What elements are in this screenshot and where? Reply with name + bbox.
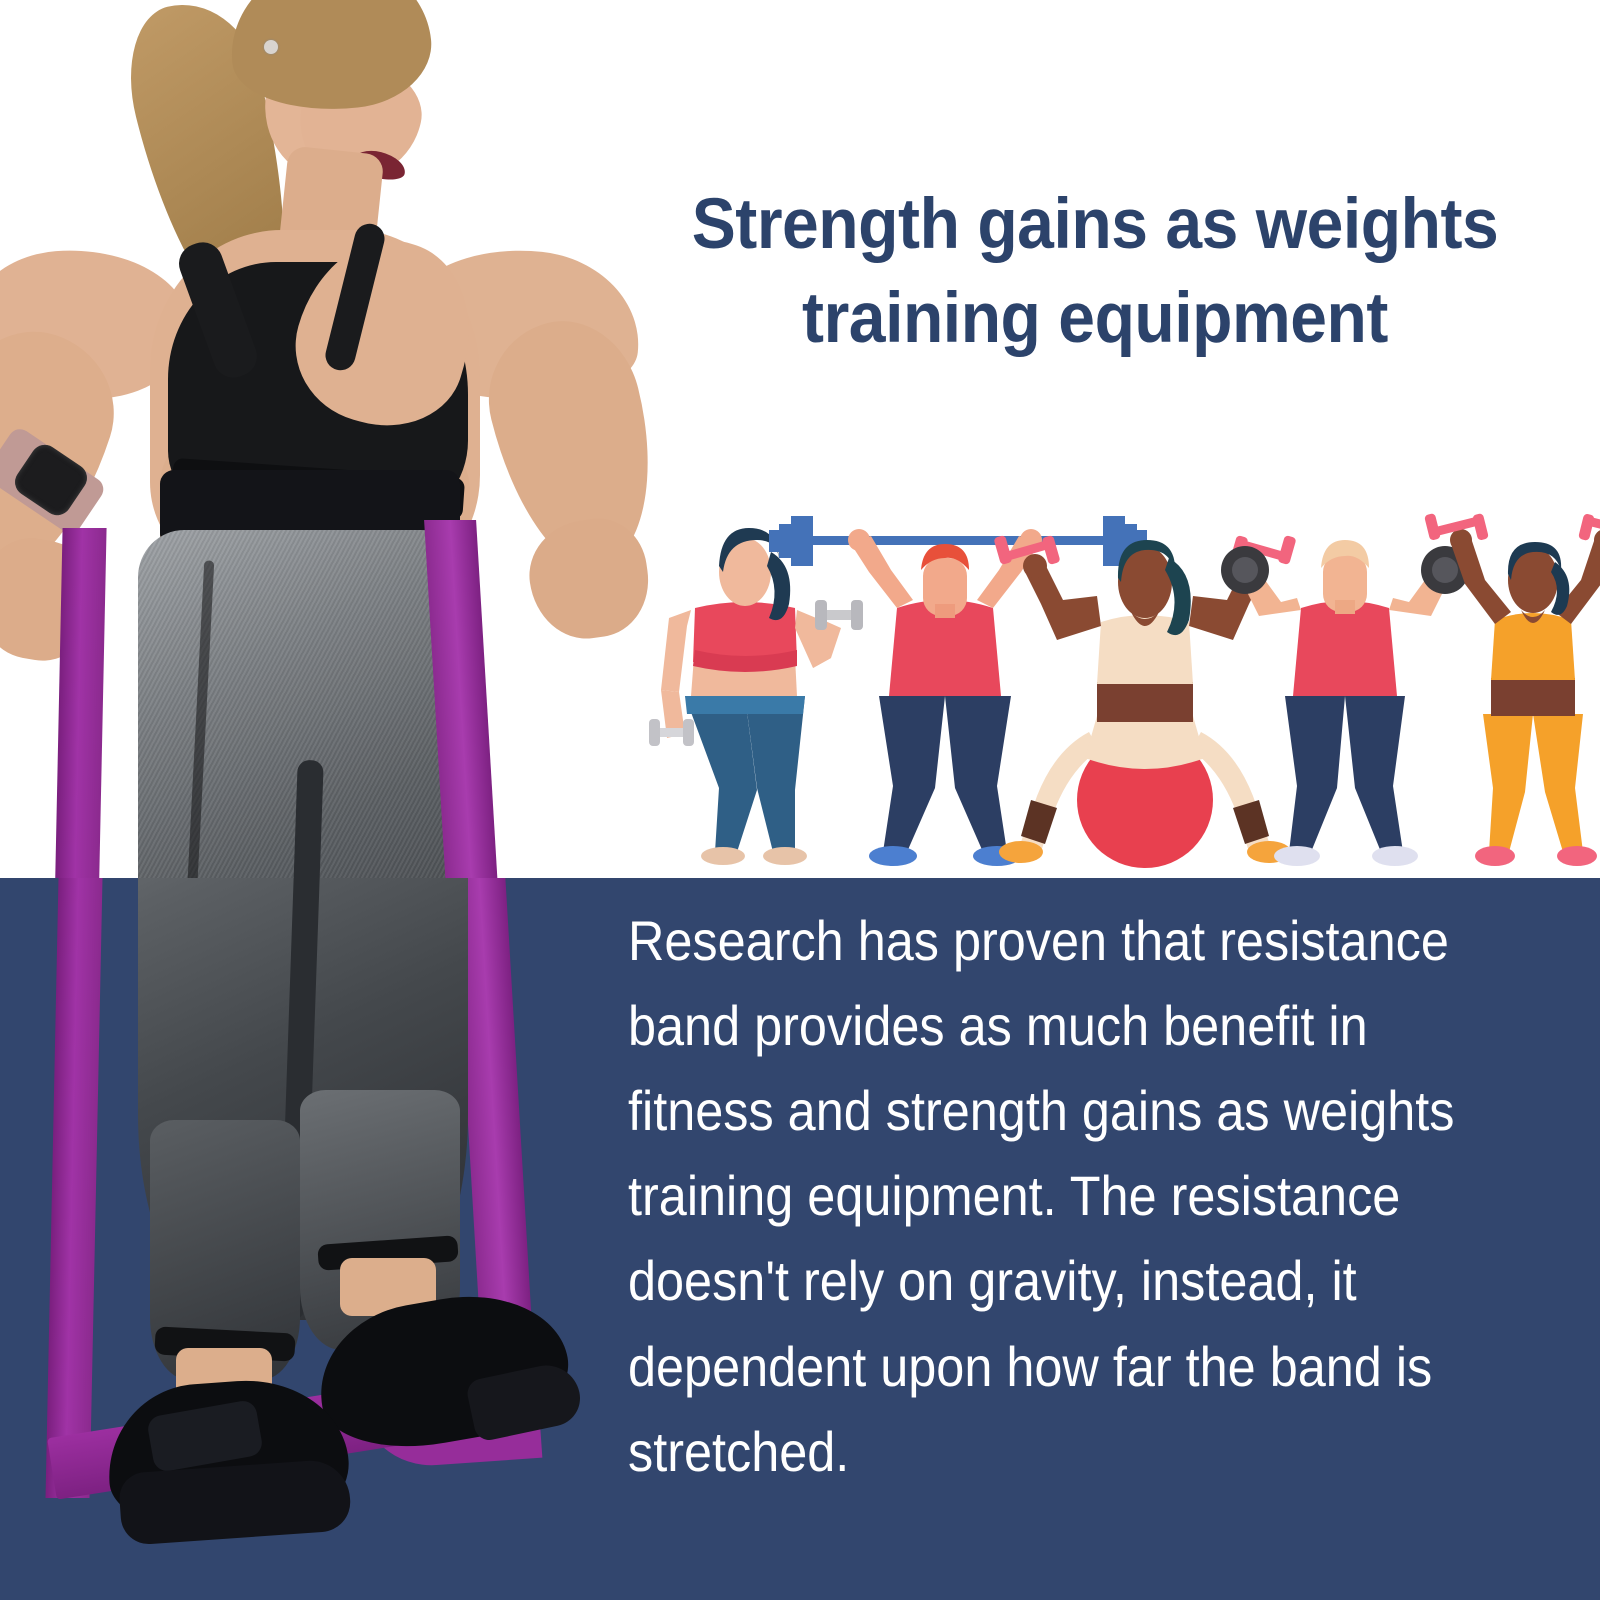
- body-paragraph: Research has proven that resistance band…: [628, 898, 1483, 1494]
- figure-woman-dumbbell-curl: [649, 528, 863, 865]
- banner-root: Strength gains as weights training equip…: [0, 0, 1600, 1600]
- figures-svg: [645, 500, 1600, 880]
- fitness-figures-illustration: [645, 500, 1600, 880]
- left-sneaker-sole-lower: [118, 1458, 352, 1546]
- dumbbell-silver-raised: [815, 600, 863, 630]
- legs-over-panel-layer: [0, 878, 620, 1600]
- page-title: Strength gains as weights training equip…: [635, 178, 1556, 367]
- dumbbell-black-left: [1221, 546, 1269, 594]
- earring: [264, 40, 278, 54]
